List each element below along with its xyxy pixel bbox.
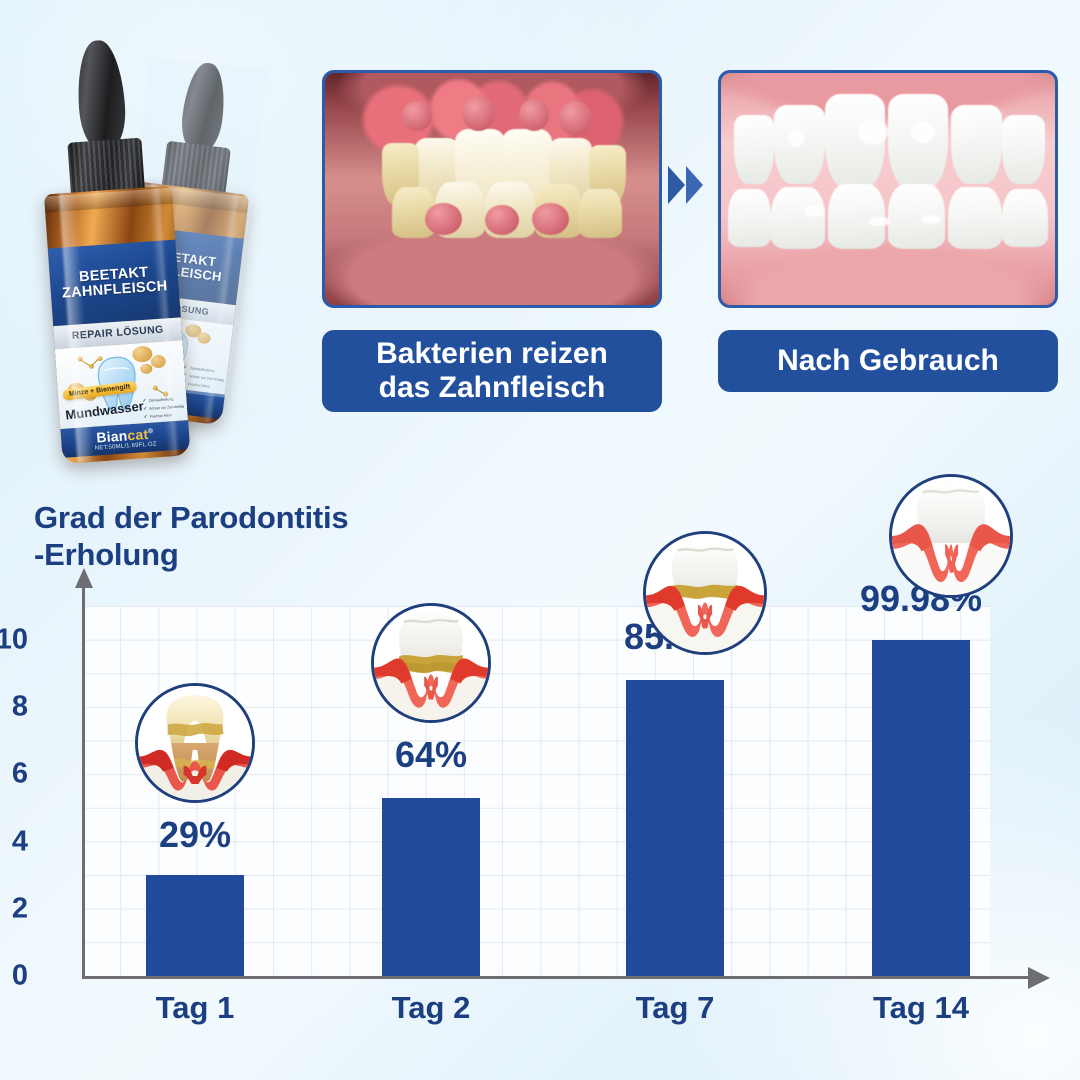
tooth-moderate-icon <box>371 603 491 723</box>
product-bottles-group: BEETAKT HNFLEISCH AIR LÖSUNG ✓Zahnaufhel… <box>22 14 322 484</box>
chart-title-line1: Grad der Parodontitis <box>34 500 454 537</box>
x-axis-arrow-icon <box>1028 967 1050 989</box>
chart-title: Grad der Parodontitis -Erholung <box>34 500 454 573</box>
x-axis <box>82 976 1030 979</box>
before-photo <box>322 70 662 308</box>
before-caption-banner: Bakterien reizen das Zahnfleisch <box>322 330 662 412</box>
y-tick-label: 10 <box>0 623 28 656</box>
x-tick-label-tag-2: Tag 2 <box>392 990 471 1026</box>
dropper-bulb-icon <box>74 39 127 150</box>
before-caption-line2: das Zahnfleisch <box>376 371 608 405</box>
y-tick-label: 6 <box>0 758 28 791</box>
x-tick-label-tag-14: Tag 14 <box>873 990 969 1026</box>
after-comparison-card: Nach Gebrauch <box>718 70 1058 392</box>
bar-tag-1 <box>146 875 244 976</box>
y-tick-label: 0 <box>0 960 28 993</box>
bar-value-tag-1: 29% <box>159 814 231 856</box>
double-chevron-right-icon <box>668 166 703 204</box>
product-bottle-front: BEETAKT ZAHNFLEISCH REPAIR LÖSUNG <box>28 36 197 465</box>
before-caption-line1: Bakterien reizen <box>376 337 608 371</box>
after-photo <box>718 70 1058 308</box>
before-comparison-card: Bakterien reizen das Zahnfleisch <box>322 70 662 412</box>
tooth-severe-icon <box>135 683 255 803</box>
bar-tag-2 <box>382 798 480 976</box>
y-tick-label: 4 <box>0 825 28 858</box>
bar-value-tag-2: 64% <box>395 734 467 776</box>
after-caption-banner: Nach Gebrauch <box>718 330 1058 392</box>
chart-title-line2: -Erholung <box>34 537 454 574</box>
tooth-healthy-icon <box>889 474 1013 598</box>
bar-tag-14 <box>872 640 970 976</box>
recovery-bar-chart: 0 2 4 6 8 10 29% 64% 85.5% 99.98% Tag 1 … <box>34 586 1054 1034</box>
bar-tag-7 <box>626 680 724 976</box>
tooth-mild-icon <box>643 531 767 655</box>
after-caption-line1: Nach Gebrauch <box>777 344 999 378</box>
y-axis-arrow-icon <box>75 568 93 588</box>
x-tick-label-tag-7: Tag 7 <box>636 990 715 1026</box>
dropper-bulb-icon <box>179 61 229 153</box>
y-tick-label: 2 <box>0 892 28 925</box>
x-tick-label-tag-1: Tag 1 <box>156 990 235 1026</box>
y-tick-label: 8 <box>0 690 28 723</box>
bottle-glass-front: BEETAKT ZAHNFLEISCH REPAIR LÖSUNG <box>44 186 191 464</box>
